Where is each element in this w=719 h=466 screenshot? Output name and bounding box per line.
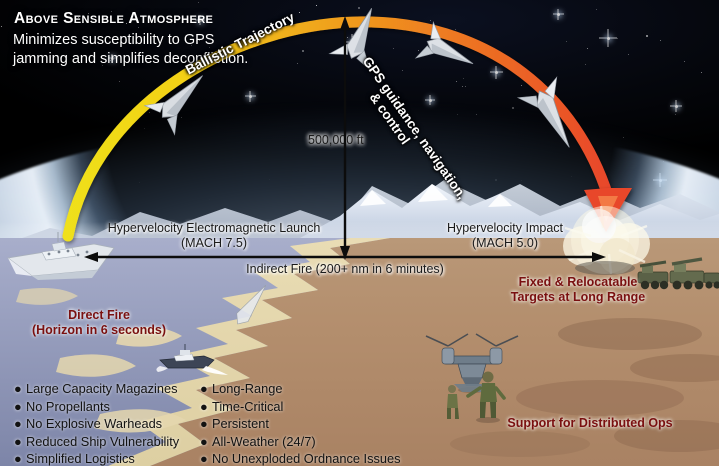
measurement-arrows [0,0,719,466]
infographic-canvas: Above Sensible Atmosphere Minimizes susc… [0,0,719,466]
